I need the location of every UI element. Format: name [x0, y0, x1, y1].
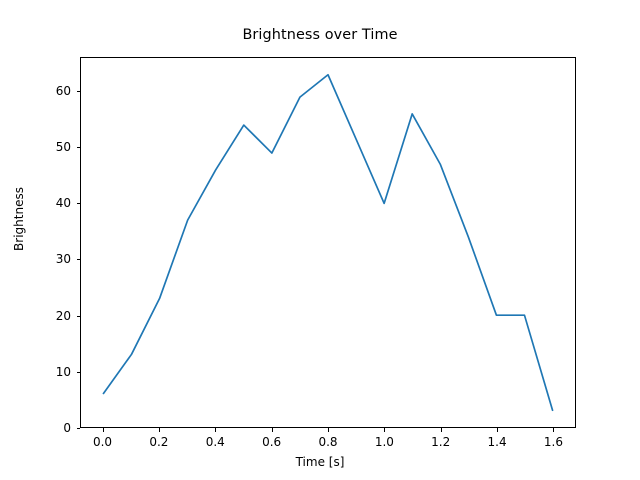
y-tick-label: 0 [63, 421, 71, 435]
x-tick-label: 1.2 [431, 435, 450, 449]
chart-title: Brightness over Time [0, 27, 640, 43]
y-tick-label: 50 [56, 140, 71, 154]
x-tick-label: 1.0 [375, 435, 394, 449]
x-tick-label: 0.0 [93, 435, 112, 449]
y-tick-mark [77, 316, 81, 317]
y-axis-title: Brightness [12, 109, 26, 329]
x-tick-mark [441, 428, 442, 432]
x-tick-label: 0.8 [318, 435, 337, 449]
x-axis-title: Time [s] [0, 455, 640, 469]
y-tick-mark [77, 147, 81, 148]
plot-area [80, 57, 576, 428]
y-tick-label: 40 [56, 196, 71, 210]
chart-line-svg [81, 58, 575, 427]
x-tick-mark [328, 428, 329, 432]
x-tick-label: 0.2 [149, 435, 168, 449]
x-tick-mark [497, 428, 498, 432]
y-tick-label: 20 [56, 309, 71, 323]
y-tick-label: 30 [56, 252, 71, 266]
chart-figure: Brightness over Time 0102030405060 0.00.… [0, 0, 640, 480]
y-tick-mark [77, 203, 81, 204]
x-tick-label: 0.4 [206, 435, 225, 449]
y-tick-label: 60 [56, 84, 71, 98]
y-tick-label: 10 [56, 365, 71, 379]
x-axis-tick-labels: 0.00.20.40.60.81.01.21.41.6 [0, 435, 640, 451]
x-tick-mark [553, 428, 554, 432]
y-tick-mark [77, 91, 81, 92]
x-tick-label: 1.6 [544, 435, 563, 449]
x-tick-label: 0.6 [262, 435, 281, 449]
y-tick-mark [77, 259, 81, 260]
x-tick-mark [215, 428, 216, 432]
x-tick-mark [103, 428, 104, 432]
x-tick-mark [159, 428, 160, 432]
x-tick-mark [272, 428, 273, 432]
y-tick-mark [77, 428, 81, 429]
y-axis-tick-labels: 0102030405060 [30, 57, 71, 428]
x-tick-label: 1.4 [488, 435, 507, 449]
x-tick-mark [384, 428, 385, 432]
series-brightness-line [103, 75, 552, 410]
y-tick-mark [77, 372, 81, 373]
